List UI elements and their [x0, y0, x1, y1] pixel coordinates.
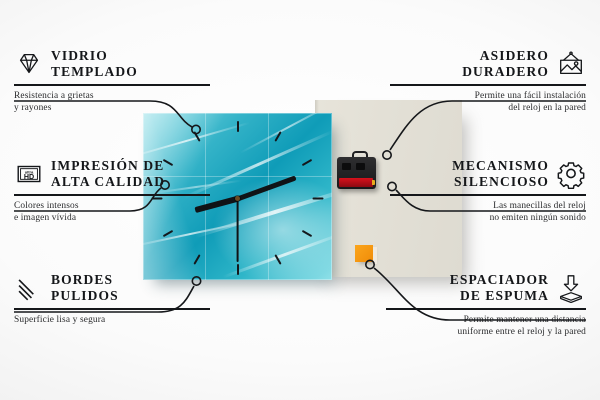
feature-title-line2: SILENCIOSO — [454, 174, 549, 189]
feature-title-line2: ALTA CALIDAD — [51, 174, 165, 189]
feature-title-line1: ASIDERO — [480, 48, 549, 63]
feature-subtitle-line1: Superficie lisa y segura — [14, 315, 105, 325]
feature-subtitle-line2: no emiten ningún sonido — [490, 213, 586, 223]
feature-impresion-alta-calidad: ultra HD IMPRESIÓN DE ALTA CALIDAD Color… — [14, 158, 210, 224]
feature-title-line1: ESPACIADOR — [450, 272, 549, 287]
feature-title-line1: MECANISMO — [452, 158, 549, 173]
feature-title-line2: DE ESPUMA — [460, 288, 549, 303]
feature-divider — [390, 194, 586, 196]
feature-subtitle-line1: Permite mantener una distancia — [464, 315, 586, 325]
feature-subtitle-line1: Permite una fácil instalación — [475, 91, 586, 101]
feature-subtitle-line2: e imagen vívida — [14, 213, 76, 223]
feature-subtitle-line2: uniforme entre el reloj y la pared — [458, 327, 586, 337]
ultra-hd-icon-main-text: HD — [24, 173, 34, 181]
feature-divider — [386, 308, 586, 310]
wall-hanger-icon — [556, 49, 586, 79]
feature-subtitle-line2: y rayones — [14, 103, 52, 113]
feature-divider — [14, 308, 210, 310]
diamond-icon — [14, 49, 44, 79]
feature-subtitle-line1: Resistencia a grietas — [14, 91, 94, 101]
feature-title-line1: IMPRESIÓN DE — [51, 158, 164, 173]
polished-edges-icon — [14, 273, 44, 303]
feature-subtitle-line2: del reloj en la pared — [508, 103, 586, 113]
feature-title-line2: TEMPLADO — [51, 64, 138, 79]
clock-battery — [339, 178, 373, 187]
foam-spacer-pad — [355, 245, 373, 262]
feature-divider — [14, 194, 210, 196]
clock-tick — [194, 255, 201, 266]
clock-center-hub — [235, 196, 240, 201]
mechanism-slot-right — [356, 163, 365, 170]
ultra-hd-icon: ultra HD — [14, 159, 44, 189]
clock-minute-hand — [237, 175, 297, 201]
feature-espaciador-de-espuma: ESPACIADOR DE ESPUMA Permite mantener un… — [386, 272, 586, 338]
feature-asidero-duradero: ASIDERO DURADERO Permite una fácil insta… — [390, 48, 586, 114]
feature-vidrio-templado: VIDRIO TEMPLADO Resistencia a grietas y … — [14, 48, 210, 114]
feature-subtitle-line1: Las manecillas del reloj — [493, 201, 586, 211]
clock-tick — [237, 121, 239, 132]
clock-tick — [237, 264, 239, 275]
feature-divider — [14, 84, 210, 86]
feature-title-line2: DURADERO — [462, 64, 549, 79]
feature-divider — [390, 84, 586, 86]
feature-bordes-pulidos: BORDES PULIDOS Superficie lisa y segura — [14, 272, 210, 326]
feature-title-line1: BORDES — [51, 272, 113, 287]
clock-tick — [302, 230, 313, 237]
clock-tick — [313, 197, 324, 199]
feature-mecanismo-silencioso: MECANISMO SILENCIOSO Las manecillas del … — [390, 158, 586, 224]
gear-icon — [556, 159, 586, 189]
feature-subtitle-line1: Colores intensos — [14, 201, 79, 211]
clock-second-hand — [237, 199, 239, 262]
infographic-canvas: VIDRIO TEMPLADO Resistencia a grietas y … — [0, 0, 600, 400]
foam-spacer-icon — [556, 273, 586, 303]
feature-title-line1: VIDRIO — [51, 48, 108, 63]
mechanism-slot-left — [342, 163, 351, 170]
feature-title-line2: PULIDOS — [51, 288, 119, 303]
clock-tick — [302, 159, 313, 166]
